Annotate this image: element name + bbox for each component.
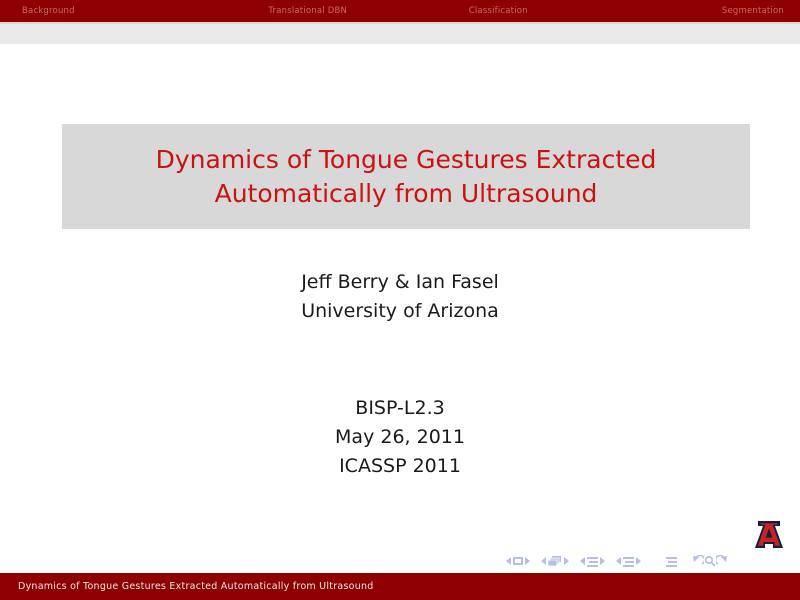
section-navigation-group[interactable]	[615, 556, 642, 567]
nav-shade-band	[0, 24, 800, 44]
previous-slide-icon	[505, 556, 512, 566]
find-icon	[704, 555, 716, 567]
nav-item-translational-dbn[interactable]: Translational DBN	[213, 6, 404, 16]
university-of-arizona-block-a-logo	[752, 518, 786, 552]
slide-navigation-group[interactable]	[505, 556, 531, 566]
subsection-icon	[586, 556, 599, 567]
previous-subsection-icon	[579, 556, 586, 566]
page-title-line-1: Dynamics of Tongue Gestures Extracted	[156, 143, 657, 177]
next-section-icon	[635, 556, 642, 566]
presentation-group[interactable]	[665, 556, 678, 567]
back-icon	[692, 555, 704, 567]
venue-conference: ICASSP 2011	[0, 452, 800, 481]
nav-item-classification[interactable]: Classification	[403, 6, 594, 16]
frame-navigation-group[interactable]	[540, 555, 570, 567]
nav-item-background[interactable]: Background	[0, 6, 213, 16]
venue-session: BISP-L2.3	[0, 394, 800, 423]
forward-icon	[716, 555, 728, 567]
author-block: Jeff Berry & Ian Fasel University of Ari…	[0, 268, 800, 326]
frame-icon	[547, 555, 563, 567]
author-names: Jeff Berry & Ian Fasel	[0, 268, 800, 297]
subsection-navigation-group[interactable]	[579, 556, 606, 567]
slide-icon	[512, 556, 524, 566]
venue-date: May 26, 2011	[0, 423, 800, 452]
section-navigation-bar: Background Translational DBN Classificat…	[0, 0, 800, 22]
next-slide-icon	[524, 556, 531, 566]
title-block: Dynamics of Tongue Gestures Extracted Au…	[62, 124, 750, 229]
next-frame-icon	[563, 556, 570, 566]
previous-frame-icon	[540, 556, 547, 566]
history-group[interactable]	[692, 555, 728, 567]
beamer-navigation-symbols[interactable]	[505, 553, 790, 569]
next-subsection-icon	[599, 556, 606, 566]
venue-block: BISP-L2.3 May 26, 2011 ICASSP 2011	[0, 394, 800, 481]
previous-section-icon	[615, 556, 622, 566]
author-affiliation: University of Arizona	[0, 297, 800, 326]
nav-item-segmentation[interactable]: Segmentation	[594, 6, 800, 16]
presentation-icon	[665, 556, 678, 567]
footer-title: Dynamics of Tongue Gestures Extracted Au…	[0, 581, 374, 592]
page-title-line-2: Automatically from Ultrasound	[215, 177, 598, 211]
section-icon	[622, 556, 635, 567]
footer-bar: Dynamics of Tongue Gestures Extracted Au…	[0, 573, 800, 600]
